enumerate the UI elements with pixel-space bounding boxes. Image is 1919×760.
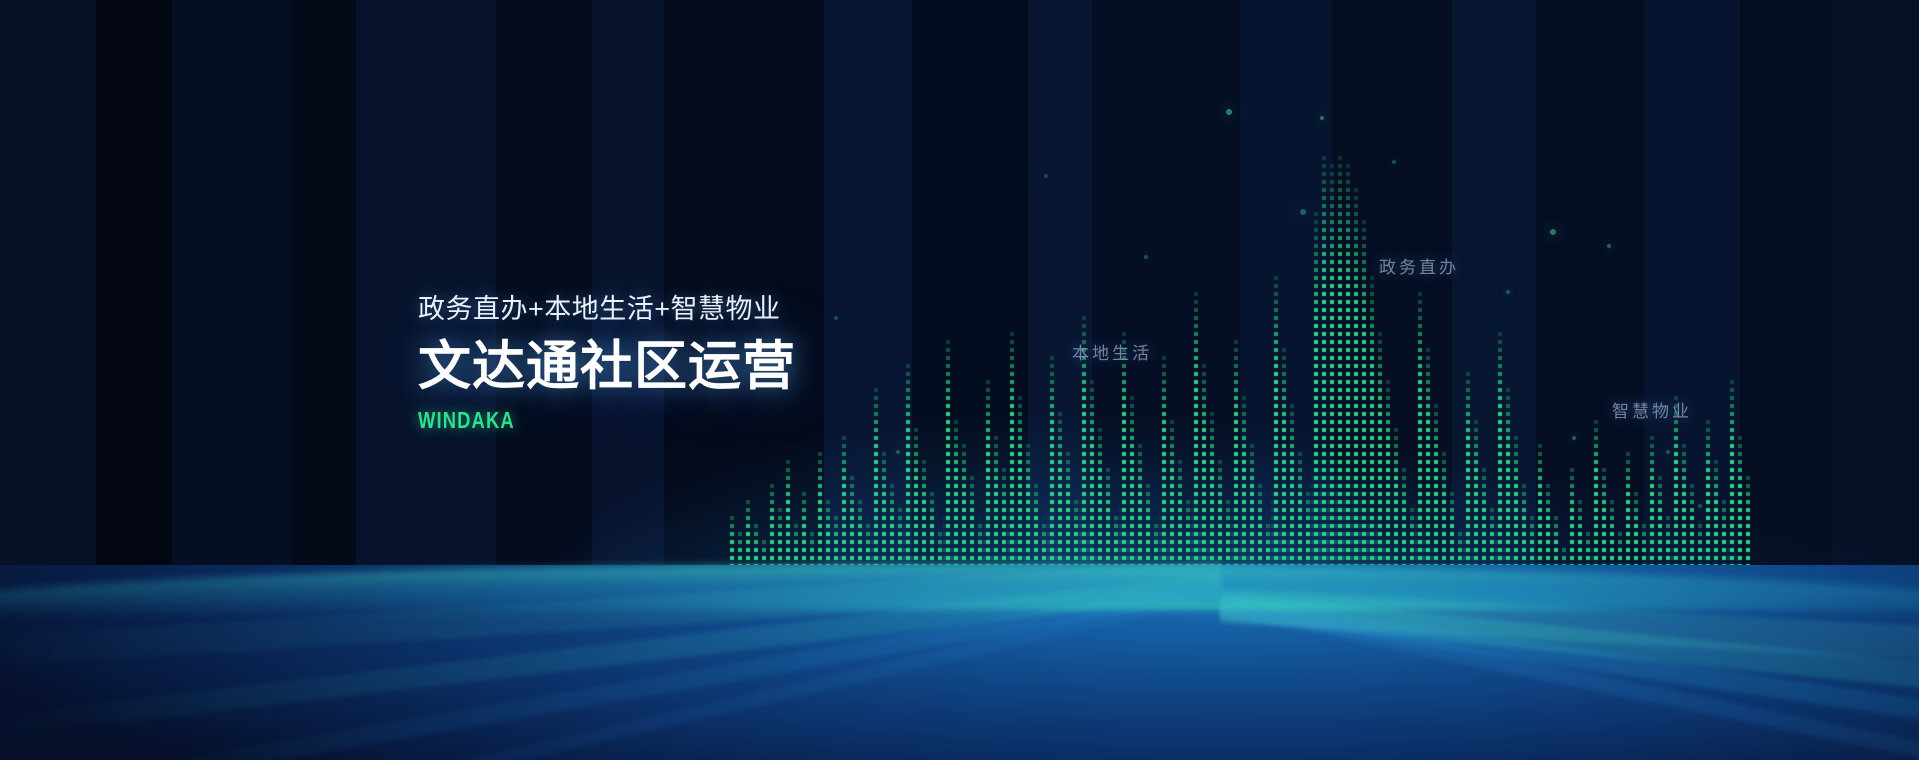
skyline-label: 智慧物业 [1612,397,1692,422]
tagline: 政务直办+本地生活+智慧物业 [418,296,796,323]
skyline-label: 本地生活 [1072,339,1152,364]
page-title: 文达通社区运营 [418,340,796,393]
skyline-label: 政务直办 [1379,253,1459,278]
headline-block: 政务直办+本地生活+智慧物业 文达通社区运营 WINDAKA [418,296,796,432]
brand-name: WINDAKA [418,409,720,432]
hero-banner: 政务直办本地生活智慧物业 政务直办+本地生活+智慧物业 文达通社区运营 WIND… [0,0,1919,760]
